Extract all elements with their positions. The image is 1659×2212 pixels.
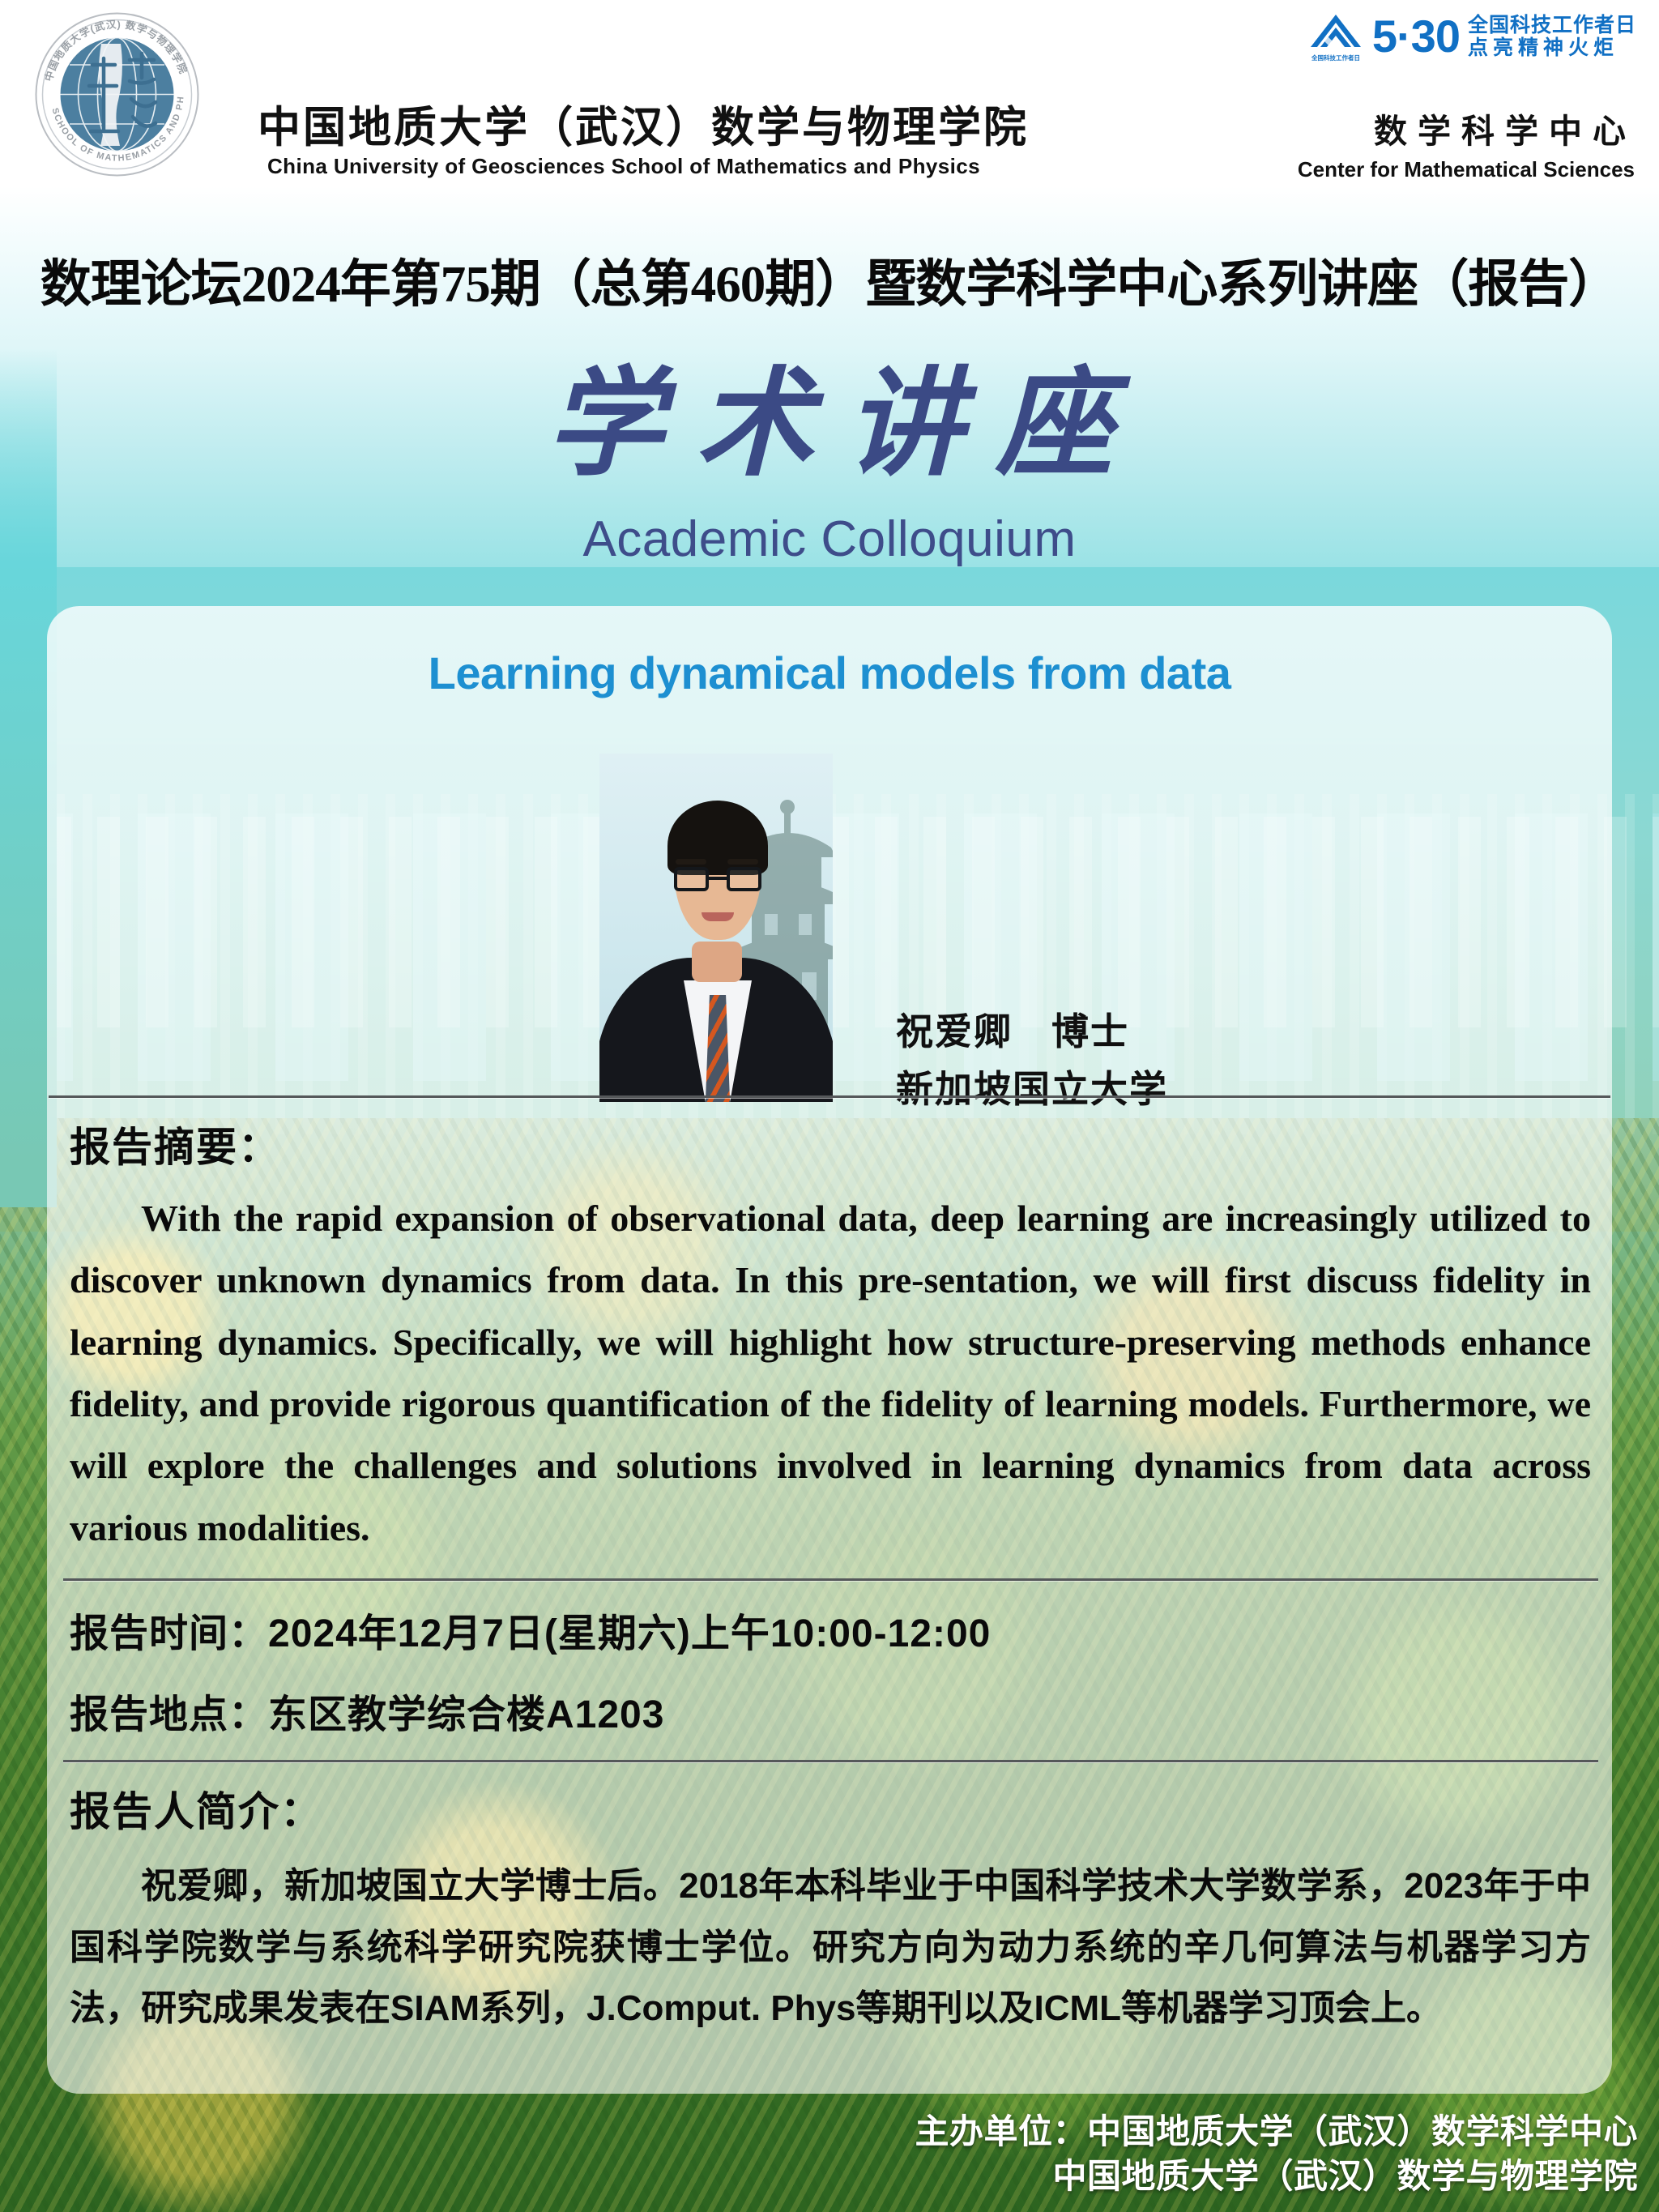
poster-root: 中国地质大学(武汉) 数学与物理学院 SCHOOL OF MATHEMATICS… [0,0,1659,2212]
forum-series-title: 数理论坛2024年第75期（总第460期）暨数学科学中心系列讲座（报告） [0,243,1659,317]
organization-name-cn: 中国地质大学（武汉）数学与物理学院 [258,93,1029,155]
abstract-label: 报告摘要： [70,1115,280,1173]
mountain-arrow-icon: 全国科技工作者日 [1307,11,1364,62]
organizer-footer: 主办单位：中国地质大学（武汉）数学科学中心 中国地质大学（武汉）数学与物理学院 [915,2110,1638,2198]
portrait-mouth [702,912,734,921]
bio-label: 报告人简介： [70,1779,322,1838]
speaker-portrait [599,754,833,1102]
talk-title: Learning dynamical models from data [0,647,1659,699]
masthead-subtitle-en: Academic Colloquium [0,510,1659,568]
speaker-affiliation: 新加坡国立大学 [896,1061,1168,1118]
national-science-workers-day-badge: 全国科技工作者日 5·30 全国科技工作者日 点亮精神火炬 [1307,11,1636,62]
bio-text: 祝爱卿，新加坡国立大学博士后。2018年本科毕业于中国科学技术大学数学系，202… [70,1855,1591,2039]
portrait-glasses-icon [674,867,761,891]
speaker-name: 祝爱卿 博士 [896,1003,1168,1061]
badge-line-2: 点亮精神火炬 [1468,36,1636,59]
organization-name-en: China University of Geosciences School o… [267,154,980,179]
masthead-calligraphy-cn: 学术讲座 [0,357,1659,492]
portrait-neck [692,942,742,982]
talk-time: 报告时间：2024年12月7日(星期六)上午10:00-12:00 [70,1601,991,1658]
center-name-en: Center for Mathematical Sciences [1298,157,1635,182]
svg-text:全国科技工作者日: 全国科技工作者日 [1311,53,1360,62]
organizer-line-1: 主办单位：中国地质大学（武汉）数学科学中心 [915,2110,1638,2154]
badge-line-1: 全国科技工作者日 [1468,14,1636,36]
organizer-line-2: 中国地质大学（武汉）数学与物理学院 [915,2154,1638,2199]
poster-header: 中国地质大学(武汉) 数学与物理学院 SCHOOL OF MATHEMATICS… [0,0,1659,207]
speaker-info: 祝爱卿 博士 新加坡国立大学 [896,1003,1168,1119]
portrait-eyebrow-right [727,859,758,865]
talk-venue: 报告地点：东区教学综合楼A1203 [70,1682,664,1739]
abstract-text: With the rapid expansion of observationa… [70,1188,1591,1559]
center-name-cn: 数学科学中心 [1374,104,1636,152]
divider-above-time [63,1578,1598,1581]
badge-date-label: 5·30 [1372,15,1460,58]
divider-above-abstract [49,1095,1610,1098]
portrait-eyebrow-left [676,859,706,865]
divider-above-bio [63,1760,1598,1762]
university-emblem-icon: 中国地质大学(武汉) 数学与物理学院 SCHOOL OF MATHEMATICS… [34,11,200,177]
